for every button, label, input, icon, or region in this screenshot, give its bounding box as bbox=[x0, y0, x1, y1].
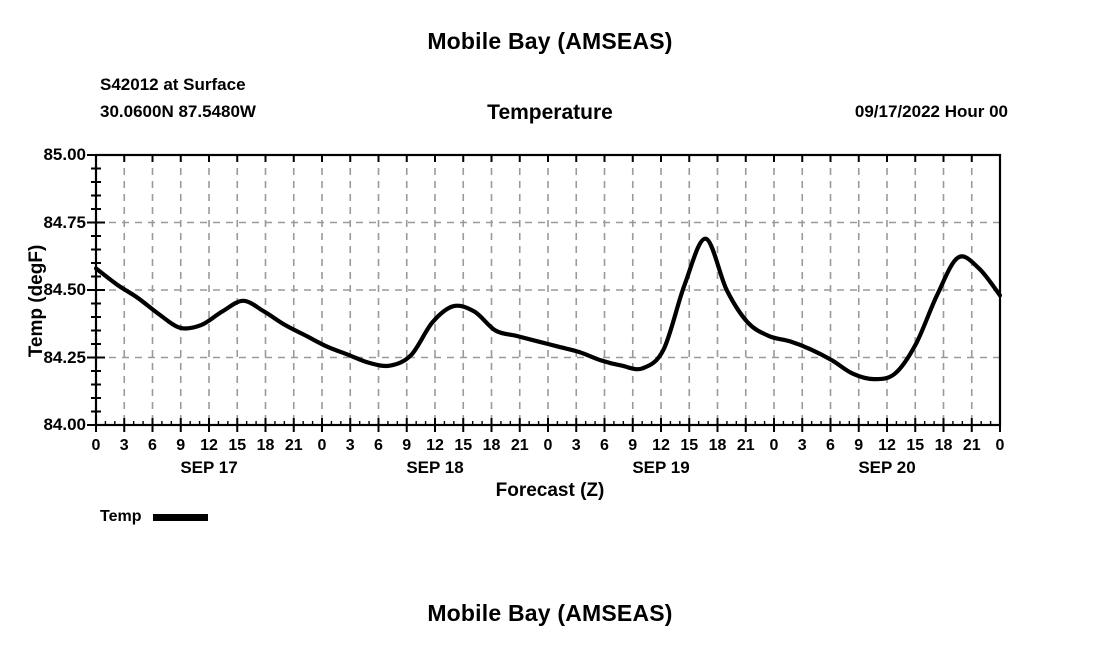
x-tick-label: 9 bbox=[846, 437, 872, 455]
x-tick-label: 3 bbox=[563, 437, 589, 455]
x-tick-label: 6 bbox=[592, 437, 618, 455]
grid-lines bbox=[96, 155, 1000, 425]
x-tick-label: 15 bbox=[224, 437, 250, 455]
legend: Temp bbox=[100, 508, 208, 526]
x-tick-label: 9 bbox=[168, 437, 194, 455]
footer-title: Mobile Bay (AMSEAS) bbox=[0, 600, 1100, 627]
x-tick-label: 3 bbox=[789, 437, 815, 455]
x-tick-label: 18 bbox=[705, 437, 731, 455]
y-tick-label: 84.75 bbox=[14, 213, 86, 233]
x-tick-label: 15 bbox=[902, 437, 928, 455]
legend-label: Temp bbox=[100, 508, 141, 526]
x-tick-label: 18 bbox=[253, 437, 279, 455]
day-label: SEP 17 bbox=[149, 458, 269, 478]
axis-ticks bbox=[87, 155, 1000, 432]
legend-line-swatch bbox=[153, 514, 208, 521]
x-tick-label: 18 bbox=[479, 437, 505, 455]
x-tick-label: 3 bbox=[337, 437, 363, 455]
x-tick-label: 12 bbox=[196, 437, 222, 455]
x-tick-label: 18 bbox=[931, 437, 957, 455]
x-tick-label: 0 bbox=[309, 437, 335, 455]
day-label: SEP 18 bbox=[375, 458, 495, 478]
x-tick-label: 0 bbox=[987, 437, 1013, 455]
x-tick-label: 6 bbox=[140, 437, 166, 455]
x-tick-label: 21 bbox=[281, 437, 307, 455]
x-tick-label: 0 bbox=[535, 437, 561, 455]
x-tick-label: 3 bbox=[111, 437, 137, 455]
chart-page: Mobile Bay (AMSEAS) S42012 at Surface 30… bbox=[0, 0, 1100, 650]
x-tick-label: 0 bbox=[83, 437, 109, 455]
day-label: SEP 20 bbox=[827, 458, 947, 478]
x-tick-label: 15 bbox=[676, 437, 702, 455]
x-tick-label: 12 bbox=[648, 437, 674, 455]
x-tick-label: 12 bbox=[422, 437, 448, 455]
x-tick-label: 9 bbox=[620, 437, 646, 455]
y-tick-label: 85.00 bbox=[14, 145, 86, 165]
y-tick-label: 84.00 bbox=[14, 415, 86, 435]
x-tick-label: 6 bbox=[818, 437, 844, 455]
x-tick-label: 15 bbox=[450, 437, 476, 455]
day-label: SEP 19 bbox=[601, 458, 721, 478]
x-tick-label: 12 bbox=[874, 437, 900, 455]
x-tick-label: 9 bbox=[394, 437, 420, 455]
y-tick-label: 84.25 bbox=[14, 348, 86, 368]
x-tick-label: 6 bbox=[366, 437, 392, 455]
x-tick-label: 21 bbox=[507, 437, 533, 455]
x-tick-label: 21 bbox=[733, 437, 759, 455]
x-tick-label: 21 bbox=[959, 437, 985, 455]
y-tick-label: 84.50 bbox=[14, 280, 86, 300]
chart-plot bbox=[0, 0, 1100, 650]
x-tick-label: 0 bbox=[761, 437, 787, 455]
